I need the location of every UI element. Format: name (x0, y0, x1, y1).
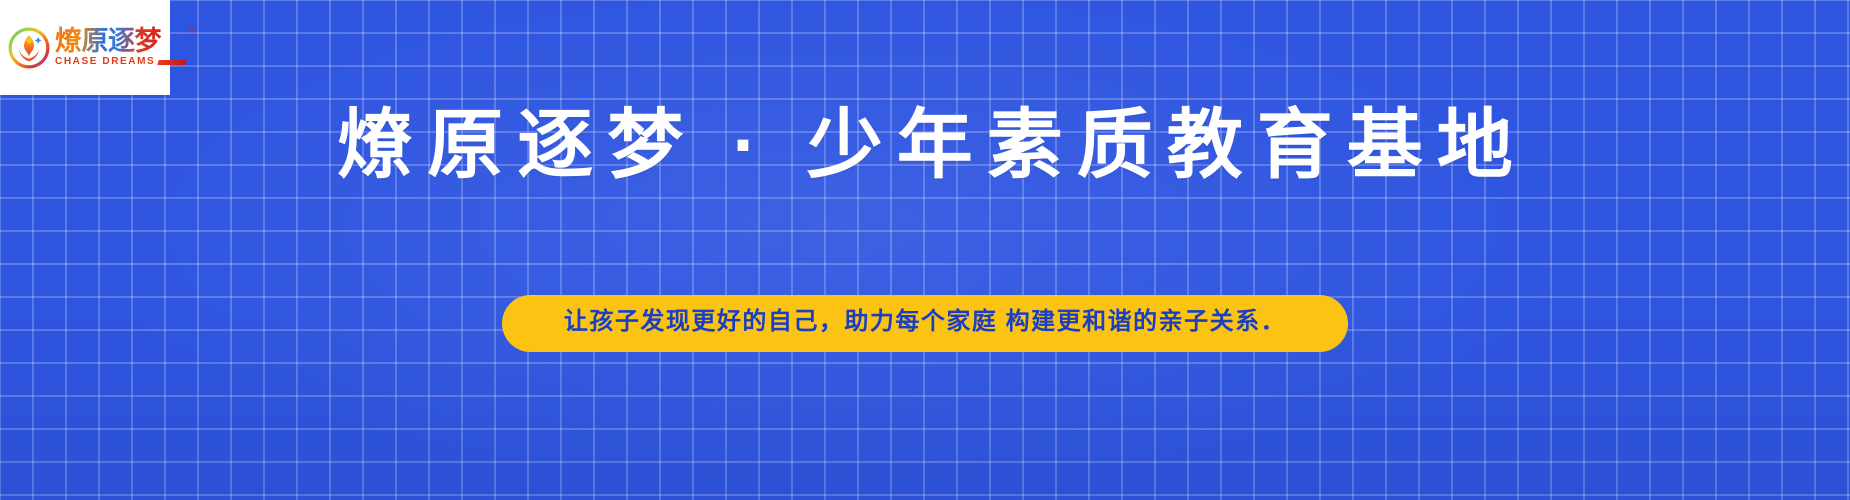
registered-trademark-icon: ® (189, 28, 194, 35)
logo-brand-en: CHASE DREAMS (55, 57, 155, 67)
page-title: 燎原逐梦 · 少年素质教育基地 (0, 105, 1850, 187)
background-sheen (0, 0, 1850, 500)
logo-accent-bar (158, 60, 188, 65)
flame-person-in-gradient-circle-icon (6, 25, 52, 71)
subtitle-pill: 让孩子发现更好的自己，助力每个家庭 构建更和谐的亲子关系． (502, 295, 1348, 352)
logo-brand-cn: 燎原逐梦 (55, 26, 161, 56)
logo-wordmark: 燎原逐梦 ® CHASE DREAMS (55, 28, 186, 67)
subtitle-container: 让孩子发现更好的自己，助力每个家庭 构建更和谐的亲子关系． (0, 295, 1850, 352)
banner-root: 燎原逐梦 ® CHASE DREAMS 燎原逐梦 · 少年素质教育基地 让孩子发… (0, 0, 1850, 500)
logo-plate[interactable]: 燎原逐梦 ® CHASE DREAMS (0, 0, 170, 95)
